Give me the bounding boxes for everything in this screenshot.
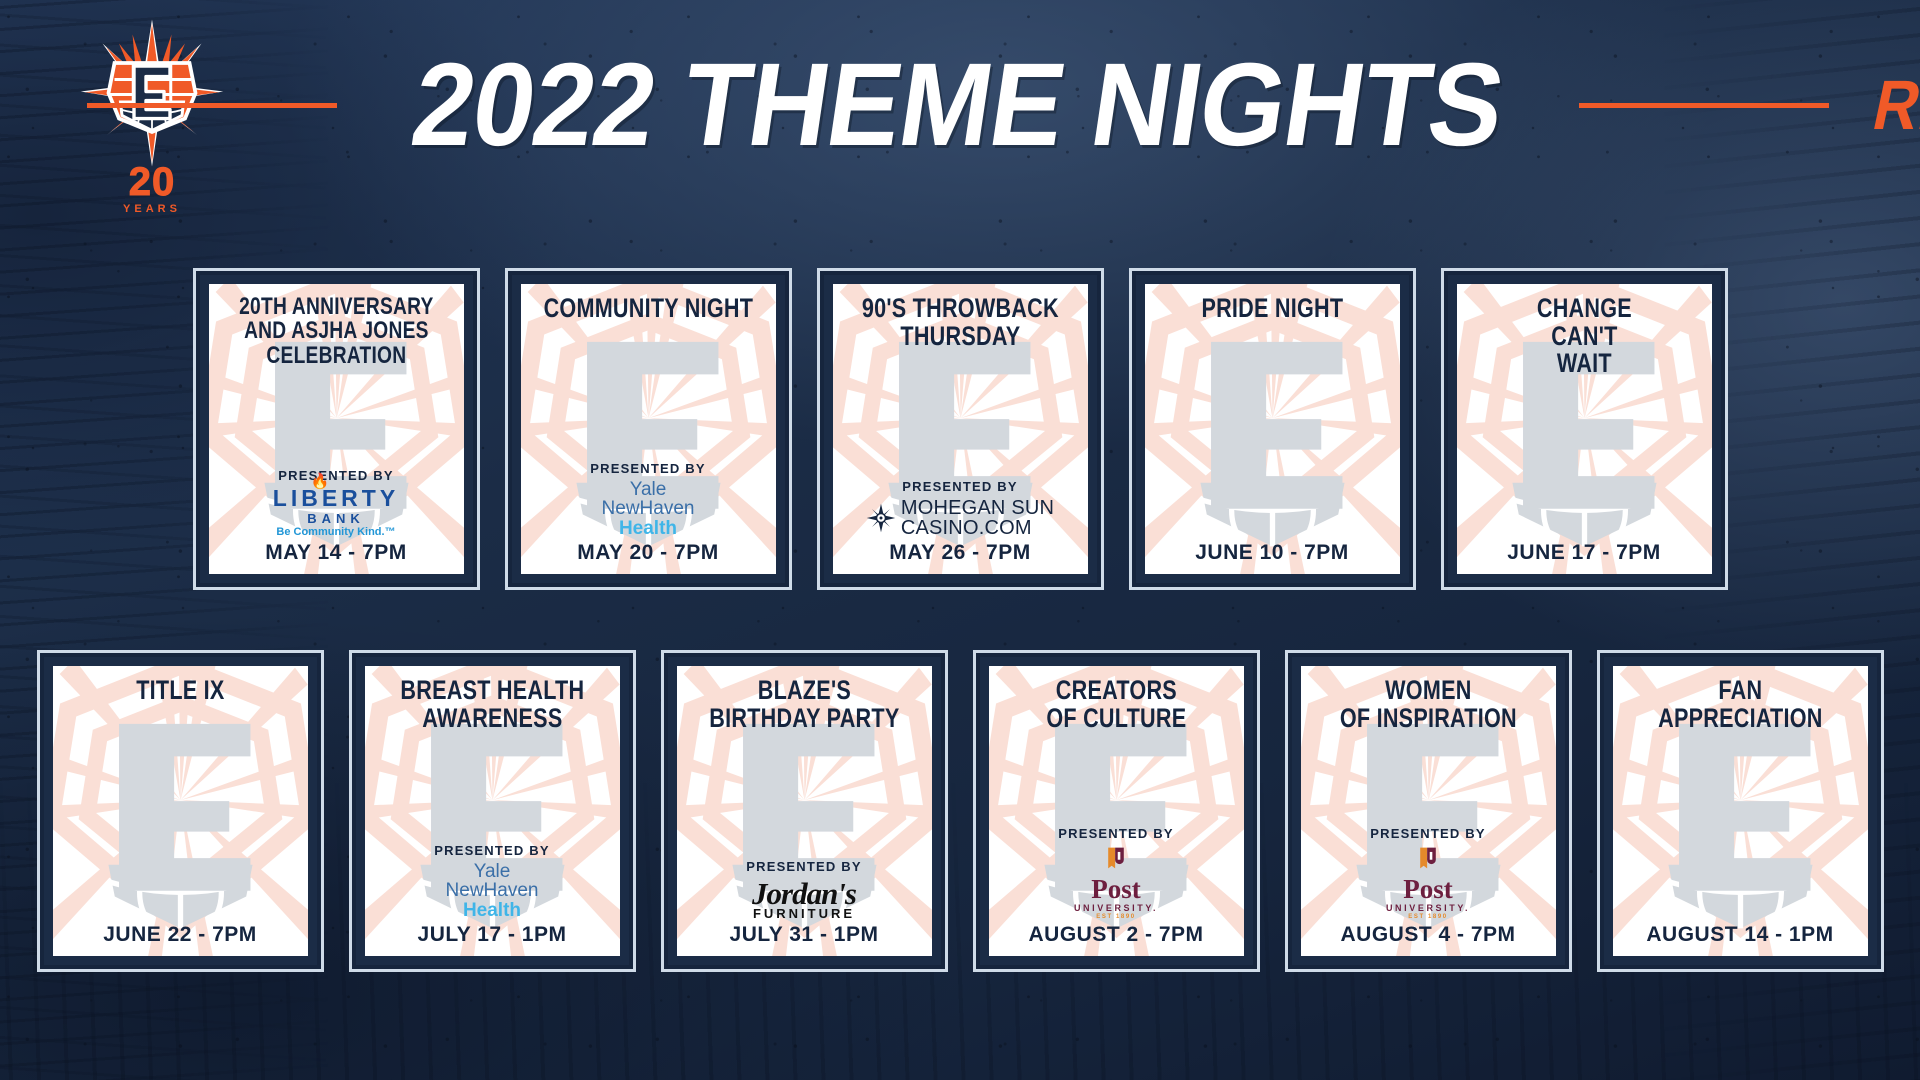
post-wordmark: Post [1074,876,1158,903]
card-title: BREAST HEALTH AWARENESS [373,677,612,732]
title-row: 2022 THEME NIGHTS RISE [250,40,1870,170]
theme-night-card[interactable]: 90'S THROWBACK THURSDAYPRESENTED BYMOHEG… [817,268,1104,590]
card-date: AUGUST 14 - 1PM [1646,923,1833,947]
card-date: MAY 14 - 7PM [265,541,406,565]
card-inner-frame: CHANGE CAN'T WAITJUNE 17 - 7PM [1448,275,1721,583]
mohegan-line1: MOHEGAN SUN [901,498,1054,518]
jordans-wordmark: Jordan's [752,878,856,909]
page-title: 2022 THEME NIGHTS [406,46,1511,164]
theme-night-card[interactable]: WOMEN OF INSPIRATIONPRESENTED BYPostUNIV… [1285,650,1572,972]
mohegan-starburst-icon [866,503,896,533]
liberty-bank-wordmark: 🔥LIBERTY [273,487,399,510]
presented-by-label: PRESENTED BY [434,843,550,858]
post-university-shield-icon [1415,845,1441,871]
liberty-bank-sub: BANK [273,512,399,525]
theme-night-card[interactable]: TITLE IXJUNE 22 - 7PM [37,650,324,972]
card-content: BREAST HEALTH AWARENESSPRESENTED BYYaleN… [365,666,620,956]
card-inner-frame: BREAST HEALTH AWARENESSPRESENTED BYYaleN… [356,657,629,965]
card-content: CREATORS OF CULTUREPRESENTED BYPostUNIVE… [989,666,1244,956]
post-university-shield-icon [1103,845,1129,871]
theme-night-row-1: 20TH ANNIVERSARY AND ASJHA JONES CELEBRA… [0,268,1920,590]
presented-by-label: PRESENTED BY [1058,826,1174,841]
card-inner-frame: PRIDE NIGHTJUNE 10 - 7PM [1136,275,1409,583]
card-title: 20TH ANNIVERSARY AND ASJHA JONES CELEBRA… [217,295,456,368]
sponsor-yale-new-haven-health: YaleNewHavenHealth [529,480,768,538]
presented-by-label: PRESENTED BY [590,461,706,476]
card-title: CHANGE CAN'T WAIT [1465,295,1704,378]
card-date: JUNE 22 - 7PM [103,923,257,947]
card-date: MAY 26 - 7PM [889,541,1030,565]
card-content: BLAZE'S BIRTHDAY PARTYPRESENTED BYJordan… [677,666,932,956]
card-content: WOMEN OF INSPIRATIONPRESENTED BYPostUNIV… [1301,666,1556,956]
presented-by-label: PRESENTED BY [902,479,1018,494]
yale-line1: Yale [602,480,695,499]
card-inner-frame: 20TH ANNIVERSARY AND ASJHA JONES CELEBRA… [200,275,473,583]
post-sub: UNIVERSITY. [1074,904,1158,913]
post-wordmark: Post [1386,876,1470,903]
mohegan-line2: CASINO.COM [901,518,1054,538]
card-inner-frame: 90'S THROWBACK THURSDAYPRESENTED BYMOHEG… [824,275,1097,583]
sponsor-yale-new-haven-health: YaleNewHavenHealth [373,862,612,920]
card-date: JUNE 10 - 7PM [1195,541,1349,565]
card-title: CREATORS OF CULTURE [997,677,1236,732]
yale-line2: NewHaven [446,881,539,900]
card-content: FAN APPRECIATIONAUGUST 14 - 1PM [1613,666,1868,956]
card-inner-frame: CREATORS OF CULTUREPRESENTED BYPostUNIVE… [980,657,1253,965]
card-inner-frame: TITLE IXJUNE 22 - 7PM [44,657,317,965]
card-date: JULY 17 - 1PM [418,923,567,947]
card-inner-frame: WOMEN OF INSPIRATIONPRESENTED BYPostUNIV… [1292,657,1565,965]
theme-night-card[interactable]: CREATORS OF CULTUREPRESENTED BYPostUNIVE… [973,650,1260,972]
theme-night-card[interactable]: BREAST HEALTH AWARENESSPRESENTED BYYaleN… [349,650,636,972]
card-title: WOMEN OF INSPIRATION [1309,677,1548,732]
card-content: 20TH ANNIVERSARY AND ASJHA JONES CELEBRA… [209,284,464,574]
card-date: AUGUST 2 - 7PM [1028,923,1203,947]
card-date: JUNE 17 - 7PM [1507,541,1661,565]
card-date: AUGUST 4 - 7PM [1340,923,1515,947]
theme-night-row-2: TITLE IXJUNE 22 - 7PMBREAST HEALTH AWARE… [0,650,1920,972]
presented-by-label: PRESENTED BY [746,859,862,874]
post-sub: UNIVERSITY. [1386,904,1470,913]
sponsor-jordans-furniture: Jordan'sFURNITURE [685,878,924,920]
yale-line2: NewHaven [602,499,695,518]
theme-night-card[interactable]: CHANGE CAN'T WAITJUNE 17 - 7PM [1441,268,1728,590]
liberty-bank-name: LIBERTY [273,485,399,511]
card-content: 90'S THROWBACK THURSDAYPRESENTED BYMOHEG… [833,284,1088,574]
theme-night-card[interactable]: BLAZE'S BIRTHDAY PARTYPRESENTED BYJordan… [661,650,948,972]
sponsor-liberty-bank: 🔥LIBERTYBANKBe Community Kind.™ [217,487,456,538]
theme-night-card[interactable]: FAN APPRECIATIONAUGUST 14 - 1PM [1597,650,1884,972]
page-header: 20 YEARS 2022 THEME NIGHTS RISE [0,0,1920,215]
card-title: BLAZE'S BIRTHDAY PARTY [685,677,924,732]
card-title: FAN APPRECIATION [1621,677,1860,732]
anniversary-number: 20 [123,162,181,202]
tagline-rise: RISE [1867,65,1920,145]
card-content: TITLE IXJUNE 22 - 7PM [53,666,308,956]
card-date: MAY 20 - 7PM [577,541,718,565]
card-content: COMMUNITY NIGHTPRESENTED BYYaleNewHavenH… [521,284,776,574]
card-inner-frame: FAN APPRECIATIONAUGUST 14 - 1PM [1604,657,1877,965]
sponsor-post-university: PostUNIVERSITY.EST 1890 [1309,845,1548,920]
card-title: COMMUNITY NIGHT [529,295,768,323]
title-rule-right [1579,103,1829,108]
sponsor-post-university: PostUNIVERSITY.EST 1890 [997,845,1236,920]
title-rule-left [87,103,337,108]
anniversary-label: YEARS [123,204,181,215]
sponsor-mohegan-sun-casino: MOHEGAN SUNCASINO.COM [841,498,1080,538]
card-content: PRIDE NIGHTJUNE 10 - 7PM [1145,284,1400,574]
card-title: PRIDE NIGHT [1153,295,1392,323]
card-title: 90'S THROWBACK THURSDAY [841,295,1080,350]
presented-by-label: PRESENTED BY [278,468,394,483]
yale-line1: Yale [446,862,539,881]
card-title: TITLE IX [61,677,300,705]
yale-line3: Health [446,901,539,920]
connecticut-sun-logo-icon [77,18,227,168]
anniversary-badge: 20 YEARS [123,162,181,215]
theme-night-card[interactable]: PRIDE NIGHTJUNE 10 - 7PM [1129,268,1416,590]
flame-icon: 🔥 [311,474,334,489]
theme-night-card[interactable]: COMMUNITY NIGHTPRESENTED BYYaleNewHavenH… [505,268,792,590]
post-est: EST 1890 [1386,914,1470,920]
yale-line3: Health [602,519,695,538]
card-inner-frame: BLAZE'S BIRTHDAY PARTYPRESENTED BYJordan… [668,657,941,965]
presented-by-label: PRESENTED BY [1370,826,1486,841]
liberty-bank-tagline: Be Community Kind.™ [273,527,399,538]
post-est: EST 1890 [1074,914,1158,920]
jordans-sub: FURNITURE [752,907,856,920]
card-inner-frame: COMMUNITY NIGHTPRESENTED BYYaleNewHavenH… [512,275,785,583]
card-content: CHANGE CAN'T WAITJUNE 17 - 7PM [1457,284,1712,574]
team-logo-block: 20 YEARS [62,18,242,218]
theme-night-card[interactable]: 20TH ANNIVERSARY AND ASJHA JONES CELEBRA… [193,268,480,590]
card-date: JULY 31 - 1PM [730,923,879,947]
